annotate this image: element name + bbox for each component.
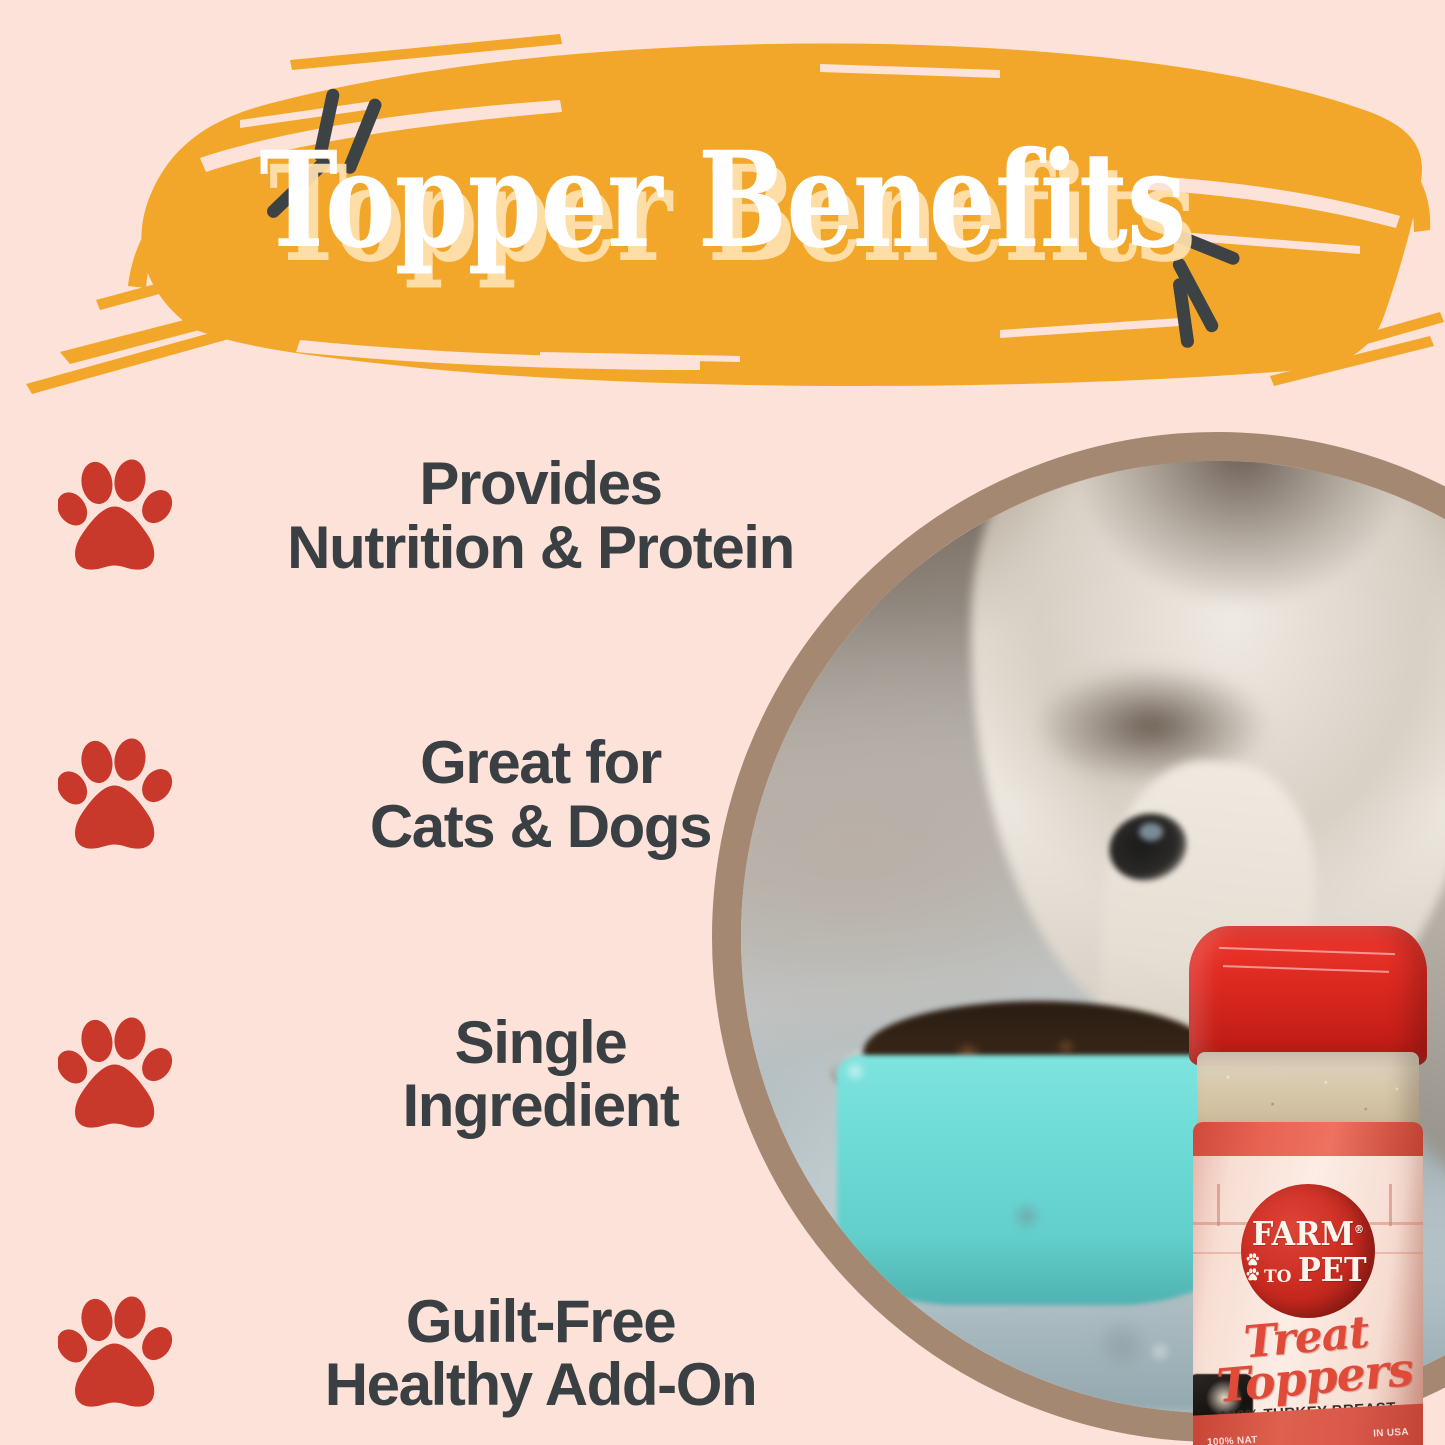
benefit-label: Provides Nutrition & Protein bbox=[190, 452, 905, 579]
footer-left-text: 100% NAT bbox=[1207, 1435, 1258, 1445]
header-banner: Topper Benefits bbox=[0, 0, 1445, 410]
benefit-line-1: Single bbox=[455, 1009, 627, 1076]
cap-seam-line bbox=[1219, 947, 1395, 955]
registered-trademark-icon: ® bbox=[1354, 1223, 1364, 1236]
dog-eye-highlight bbox=[1139, 823, 1163, 841]
benefit-line-1: Guilt-Free bbox=[406, 1288, 675, 1355]
paw-print-icon bbox=[58, 736, 176, 854]
benefit-item: Guilt-Free Healthy Add-On bbox=[0, 1290, 905, 1417]
product-name: Treat Toppers bbox=[1193, 1308, 1423, 1409]
benefit-item: Single Ingredient bbox=[0, 1011, 905, 1138]
benefit-line-1: Great for bbox=[420, 729, 661, 796]
brand-name-farm: FARM® bbox=[1252, 1217, 1364, 1250]
benefit-label: Great for Cats & Dogs bbox=[190, 731, 905, 858]
paw-print-icon bbox=[58, 457, 176, 575]
benefit-line-2: Healthy Add-On bbox=[190, 1353, 891, 1417]
brand-name-pet: PET bbox=[1298, 1255, 1367, 1285]
paw-print-icon bbox=[58, 1015, 176, 1133]
benefit-line-2: Cats & Dogs bbox=[190, 795, 891, 859]
paw-print-icon bbox=[1246, 1253, 1260, 1286]
brand-second-row: TO PET bbox=[1246, 1253, 1370, 1286]
paw-print-icon bbox=[58, 1294, 176, 1412]
benefit-line-1: Provides bbox=[419, 450, 661, 517]
brand-farm-text: FARM bbox=[1252, 1214, 1354, 1253]
benefit-label: Guilt-Free Healthy Add-On bbox=[190, 1290, 905, 1417]
brand-badge: FARM® TO PET bbox=[1241, 1184, 1375, 1318]
benefit-line-2: Ingredient bbox=[190, 1074, 891, 1138]
benefit-line-2: Nutrition & Protein bbox=[190, 516, 891, 580]
footer-right-text: IN USA bbox=[1373, 1427, 1409, 1440]
fence-post bbox=[1389, 1184, 1392, 1226]
fence-post bbox=[1217, 1184, 1220, 1226]
product-bottle: FARM® TO PET bbox=[1183, 926, 1433, 1445]
page-title: Topper Benefits bbox=[145, 135, 1301, 267]
cap-seam-line bbox=[1223, 965, 1389, 973]
benefit-label: Single Ingredient bbox=[190, 1011, 905, 1138]
benefit-item: Great for Cats & Dogs bbox=[0, 731, 905, 858]
brand-name-to: TO bbox=[1264, 1269, 1291, 1286]
benefit-item: Provides Nutrition & Protein bbox=[0, 452, 905, 579]
label-top-band bbox=[1193, 1122, 1423, 1156]
bottle-cap bbox=[1189, 926, 1427, 1066]
benefits-list: Provides Nutrition & Protein Great for C… bbox=[0, 452, 905, 1417]
bottle-label: FARM® TO PET bbox=[1193, 1122, 1423, 1445]
